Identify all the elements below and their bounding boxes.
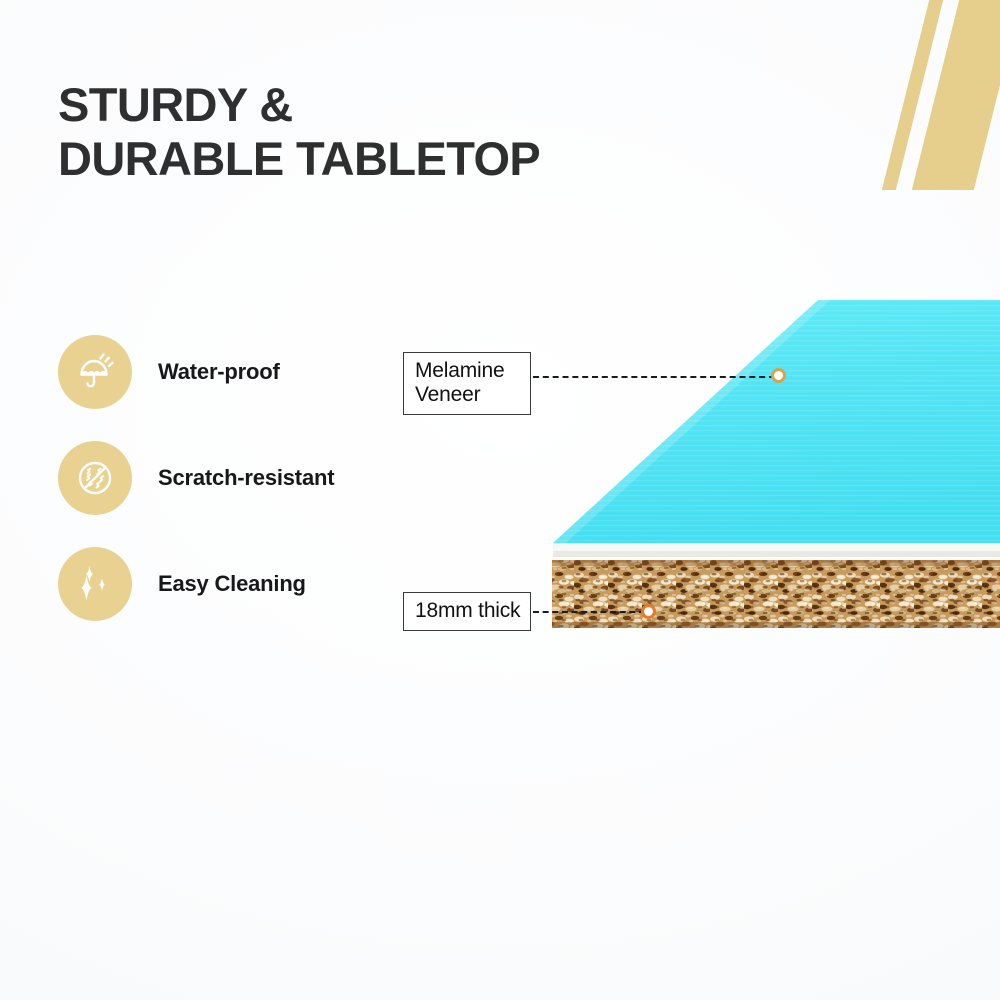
particleboard-core-layer <box>552 560 1000 628</box>
feature-item-scratch-resistant: Scratch-resistant <box>58 441 334 515</box>
page-title: STURDY & DURABLE TABLETOP <box>58 78 540 185</box>
feature-label: Water-proof <box>158 359 280 385</box>
no-scratch-icon <box>73 456 117 500</box>
feature-item-easy-cleaning: Easy Cleaning <box>58 547 334 621</box>
title-line-1: STURDY & <box>58 78 293 131</box>
sparkles-icon <box>73 562 117 606</box>
leader-line-thickness <box>533 611 645 613</box>
tabletop-cross-section <box>540 285 1000 645</box>
feature-badge <box>58 335 132 409</box>
umbrella-rain-icon <box>73 350 117 394</box>
callout-marker-thickness <box>641 604 656 619</box>
feature-label: Scratch-resistant <box>158 465 334 491</box>
feature-badge <box>58 441 132 515</box>
infographic-canvas: STURDY & DURABLE TABLETOP <box>0 0 1000 1000</box>
callout-thickness: 18mm thick <box>403 592 531 631</box>
leader-line-melamine <box>533 376 775 378</box>
title-line-2: DURABLE TABLETOP <box>58 132 540 186</box>
feature-item-water-proof: Water-proof <box>58 335 334 409</box>
callout-marker-melamine <box>771 368 786 383</box>
gold-corner-decoration <box>860 0 1000 190</box>
feature-badge <box>58 547 132 621</box>
feature-label: Easy Cleaning <box>158 571 306 597</box>
callout-melamine-veneer: Melamine Veneer <box>403 352 531 415</box>
melamine-surface-layer <box>553 300 1000 543</box>
veneer-edge-layer <box>553 543 1000 557</box>
feature-list: Water-proof <box>58 335 334 621</box>
